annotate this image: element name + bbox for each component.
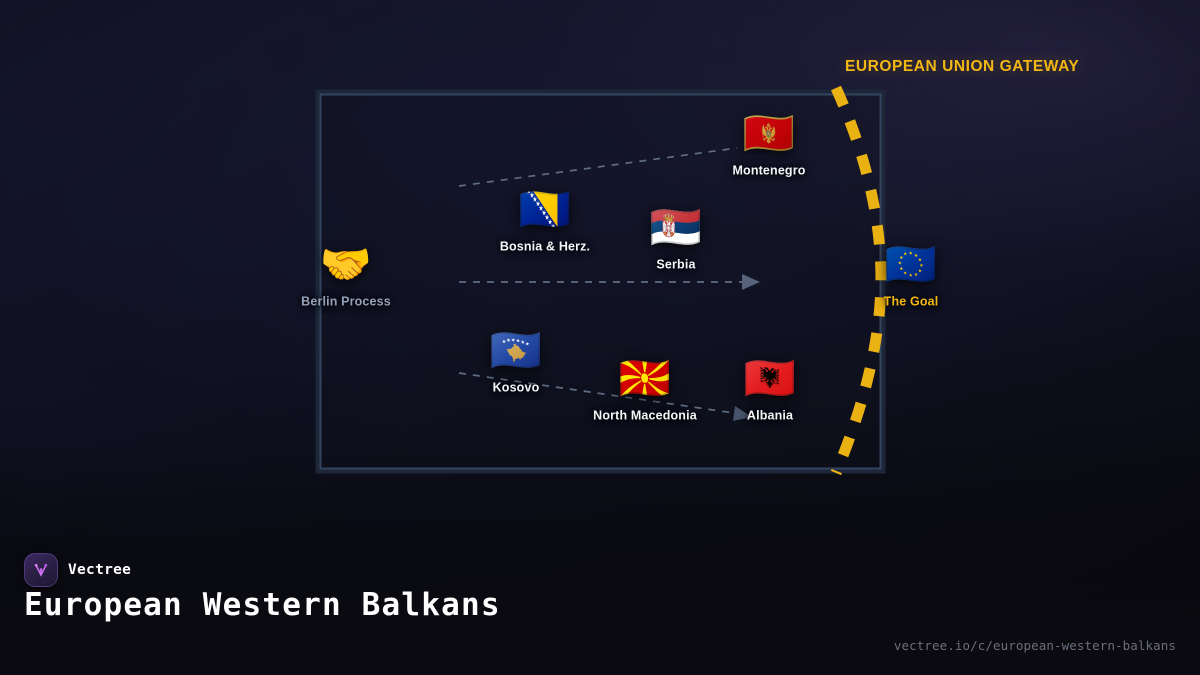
node-bosnia-herz[interactable]: 🇧🇦 Bosnia & Herz. bbox=[500, 189, 590, 254]
node-the-goal[interactable]: 🇪🇺 The Goal bbox=[884, 244, 939, 309]
node-montenegro[interactable]: 🇲🇪 Montenegro bbox=[732, 113, 805, 178]
node-label-albania: Albania bbox=[747, 409, 793, 423]
node-label-serbia: Serbia bbox=[656, 258, 695, 272]
gateway-title: EUROPEAN UNION GATEWAY bbox=[845, 58, 1079, 76]
node-north-macedonia[interactable]: 🇲🇰 North Macedonia bbox=[593, 358, 697, 423]
node-label-bosnia-herz: Bosnia & Herz. bbox=[500, 240, 590, 254]
flag-north-macedonia-icon: 🇲🇰 bbox=[619, 358, 671, 400]
flag-bosnia-icon: 🇧🇦 bbox=[519, 189, 571, 231]
footer: Vectree European Western Balkans vectree… bbox=[0, 535, 1200, 675]
page-url: vectree.io/c/european-western-balkans bbox=[894, 638, 1176, 653]
vectree-logo-icon bbox=[24, 553, 58, 587]
flag-kosovo-icon: 🇽🇰 bbox=[490, 330, 542, 372]
flag-serbia-icon: 🇷🇸 bbox=[650, 207, 702, 249]
node-serbia[interactable]: 🇷🇸 Serbia bbox=[650, 207, 702, 272]
node-label-kosovo: Kosovo bbox=[493, 381, 540, 395]
node-label-north-macedonia: North Macedonia bbox=[593, 409, 697, 423]
brand-row[interactable]: Vectree bbox=[24, 553, 131, 587]
node-label-berlin-process: Berlin Process bbox=[301, 295, 391, 309]
node-berlin-process[interactable]: 🤝 Berlin Process bbox=[301, 244, 391, 309]
handshake-icon: 🤝 bbox=[320, 244, 372, 286]
flag-albania-icon: 🇦🇱 bbox=[744, 358, 796, 400]
page-title: European Western Balkans bbox=[24, 587, 501, 623]
node-label-montenegro: Montenegro bbox=[732, 164, 805, 178]
screenshot-root: EUROPEAN UNION GATEWAY 🤝 Berlin Process … bbox=[0, 0, 1200, 675]
node-albania[interactable]: 🇦🇱 Albania bbox=[744, 358, 796, 423]
flag-eu-icon: 🇪🇺 bbox=[885, 244, 937, 286]
node-label-the-goal: The Goal bbox=[884, 295, 939, 309]
brand-name: Vectree bbox=[68, 562, 131, 578]
flag-montenegro-icon: 🇲🇪 bbox=[743, 113, 795, 155]
node-kosovo[interactable]: 🇽🇰 Kosovo bbox=[490, 330, 542, 395]
